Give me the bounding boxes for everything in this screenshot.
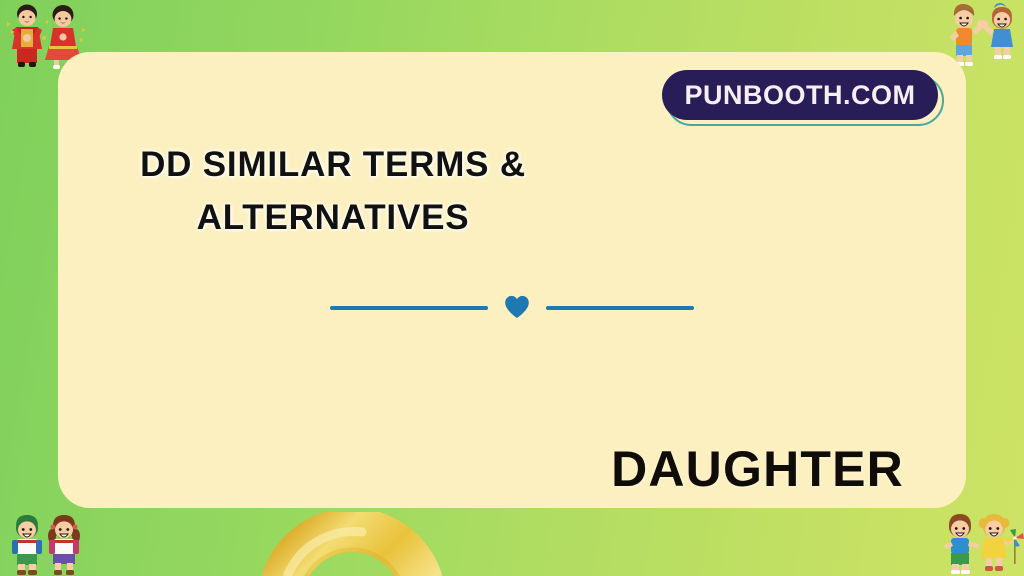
kids-school-backpack-icon — [2, 512, 92, 576]
brand-badge-pill[interactable]: PUNBOOTH.COM — [662, 70, 938, 120]
divider-line-right — [546, 306, 694, 310]
divider-line-left — [330, 306, 488, 310]
brand-badge-label: PUNBOOTH.COM — [685, 80, 916, 111]
keyword-text: DAUGHTER — [611, 440, 904, 498]
gold-torus-ring-icon — [262, 512, 442, 576]
divider — [58, 295, 966, 321]
kids-waving-icon — [944, 0, 1024, 68]
poster-canvas: PUNBOOTH.COM DD SIMILAR TERMS & ALTERNAT… — [0, 0, 1024, 576]
heart-icon — [504, 295, 530, 319]
content-card: PUNBOOTH.COM DD SIMILAR TERMS & ALTERNAT… — [58, 52, 966, 508]
page-title: DD SIMILAR TERMS & ALTERNATIVES — [98, 138, 568, 244]
kids-pinwheel-icon — [936, 508, 1024, 576]
brand-badge[interactable]: PUNBOOTH.COM — [662, 70, 944, 126]
